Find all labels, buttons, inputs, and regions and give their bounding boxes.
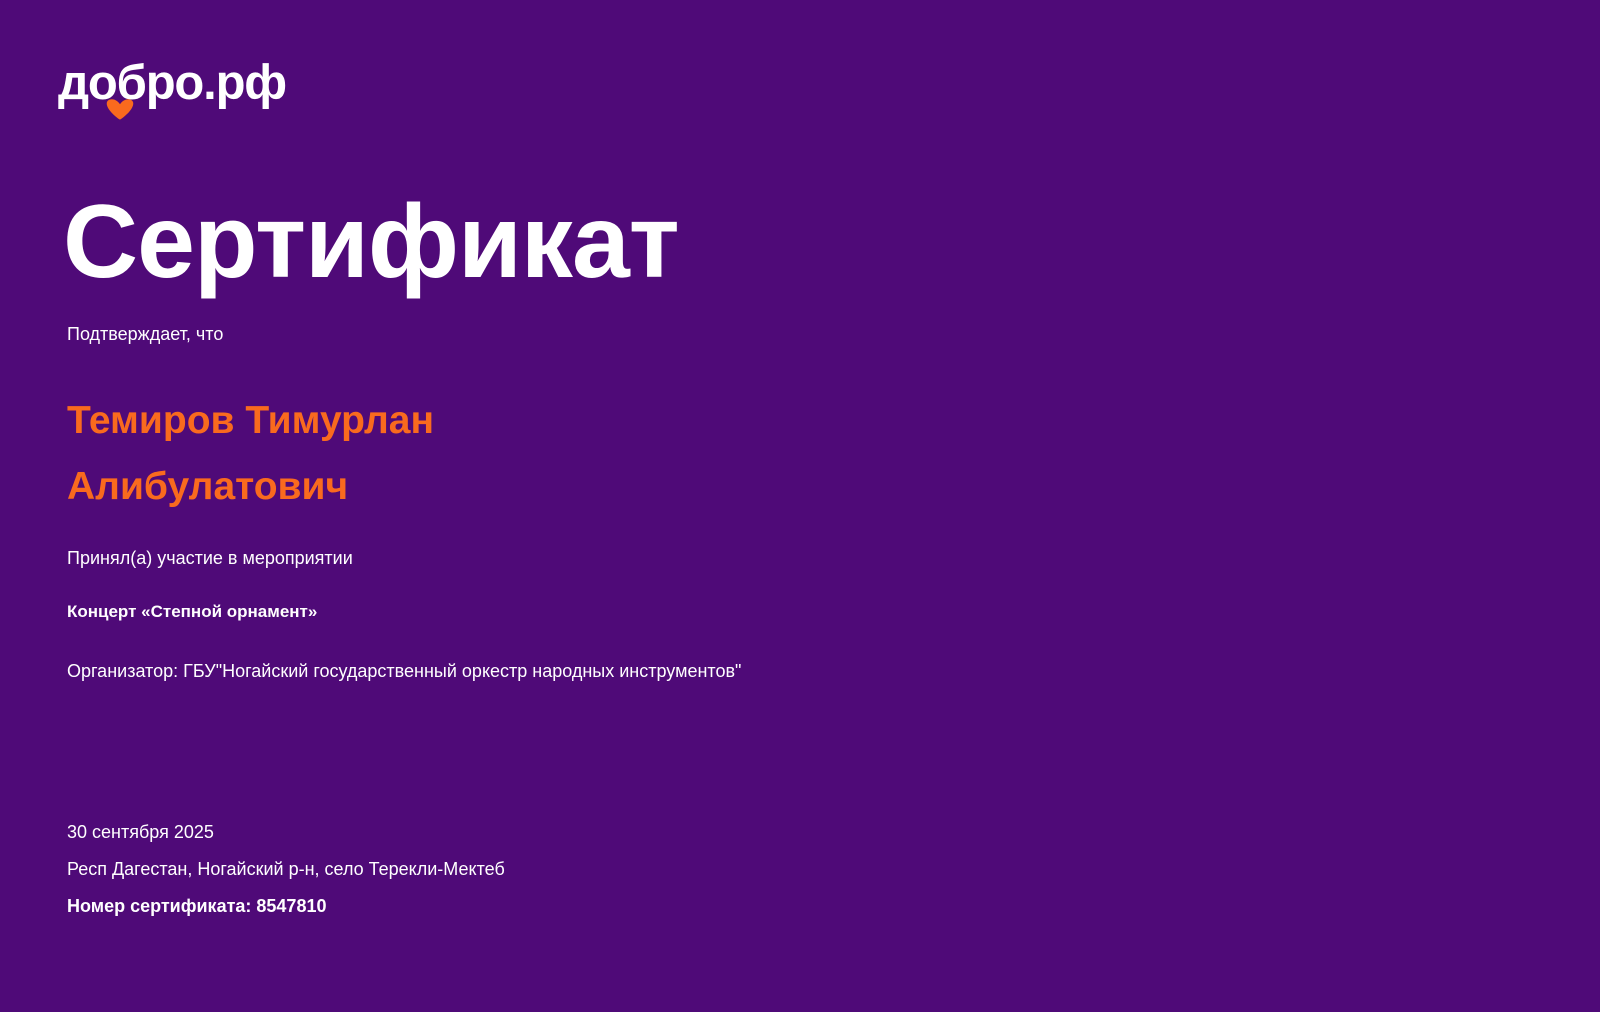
heart-icon — [106, 98, 134, 120]
issue-date: 30 сентября 2025 — [67, 814, 827, 851]
logo-wordmark: добро.рф — [58, 58, 298, 108]
confirms-label: Подтверждает, что — [67, 322, 827, 346]
certificate-page: добро.рф Сертификат Подтверждает, что Те… — [0, 0, 1600, 1012]
page-title: Сертификат — [63, 186, 827, 298]
recipient-name: Темиров Тимурлан Алибулатович — [67, 388, 627, 520]
event-title: Концерт «Степной орнамент» — [67, 600, 827, 624]
certificate-footer: 30 сентября 2025 Респ Дагестан, Ногайски… — [67, 814, 827, 925]
participation-label: Принял(а) участие в мероприятии — [67, 546, 827, 570]
certificate-content: Сертификат Подтверждает, что Темиров Тим… — [67, 186, 827, 688]
organizer-text: Организатор: ГБУ"Ногайский государственн… — [67, 654, 757, 688]
certificate-number: Номер сертификата: 8547810 — [67, 888, 827, 925]
dobro-rf-logo: добро.рф — [58, 58, 298, 120]
issue-place: Респ Дагестан, Ногайский р-н, село Терек… — [67, 851, 827, 888]
